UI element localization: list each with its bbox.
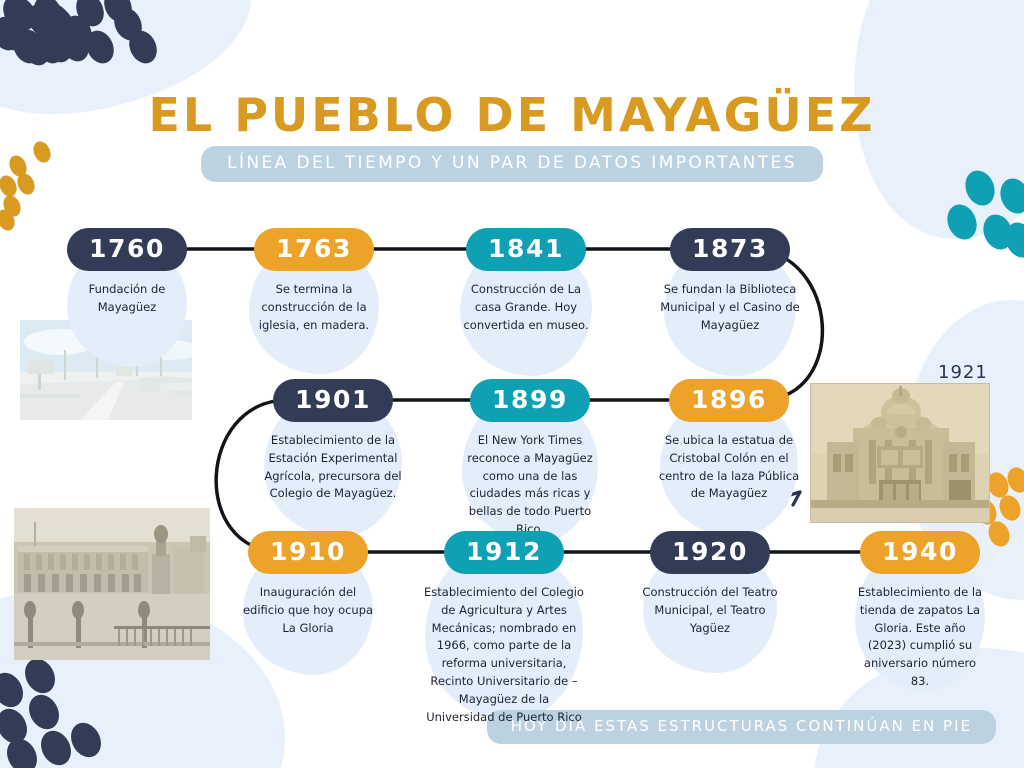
event-description: Construcción del Teatro Municipal, el Te… [640, 584, 780, 637]
event-description: Se fundan la Biblioteca Municipal y el C… [660, 281, 800, 334]
event-description: Establecimiento de la tienda de zapatos … [854, 584, 986, 691]
timeline-event-1896[interactable]: 1896 Se ubica la estatua de Cristobal Co… [658, 379, 800, 503]
photo-teatro-yaguez [810, 383, 990, 523]
photo-plaza-historic [14, 508, 210, 660]
event-year-pill: 1910 [248, 531, 368, 574]
event-year-pill: 1912 [444, 531, 564, 574]
event-year-pill: 1896 [669, 379, 789, 422]
event-description: Establecimiento del Colegio de Agricultu… [424, 584, 584, 727]
timeline-event-1760[interactable]: 1760 Fundación de Mayagüez [62, 228, 192, 317]
photo-year-label-1921: 1921 [938, 362, 988, 383]
infographic-canvas: EL PUEBLO DE MAYAGÜEZ LÍNEA DEL TIEMPO Y… [0, 0, 1024, 768]
event-description: Inauguración del edificio que hoy ocupa … [240, 584, 376, 637]
timeline-event-1873[interactable]: 1873 Se fundan la Biblioteca Municipal y… [660, 228, 800, 334]
timeline-event-1901[interactable]: 1901 Establecimiento de la Estación Expe… [262, 379, 404, 503]
event-year-pill: 1920 [650, 531, 770, 574]
event-year-pill: 1841 [466, 228, 586, 271]
page-title: EL PUEBLO DE MAYAGÜEZ [0, 88, 1024, 142]
timeline-event-1920[interactable]: 1920 Construcción del Teatro Municipal, … [640, 531, 780, 637]
subtitle-banner: LÍNEA DEL TIEMPO Y UN PAR DE DATOS IMPOR… [201, 146, 823, 182]
event-description: Se termina la construcción de la iglesia… [246, 281, 382, 334]
timeline-event-1841[interactable]: 1841 Construcción de La casa Grande. Hoy… [456, 228, 596, 334]
event-year-pill: 1940 [860, 531, 980, 574]
event-description: El New York Times reconoce a Mayagüez co… [460, 432, 600, 539]
event-description: Se ubica la estatua de Cristobal Colón e… [658, 432, 800, 503]
event-description: Establecimiento de la Estación Experimen… [262, 432, 404, 503]
timeline-event-1899[interactable]: 1899 El New York Times reconoce a Mayagü… [460, 379, 600, 539]
timeline-event-1910[interactable]: 1910 Inauguración del edificio que hoy o… [240, 531, 376, 637]
decor-dots-gold-left [0, 139, 54, 234]
event-description: Fundación de Mayagüez [62, 281, 192, 317]
event-year-pill: 1899 [470, 379, 590, 422]
event-year-pill: 1760 [67, 228, 187, 271]
timeline-event-1940[interactable]: 1940 Establecimiento de la tienda de zap… [854, 531, 986, 691]
timeline-event-1763[interactable]: 1763 Se termina la construcción de la ig… [246, 228, 382, 334]
event-year-pill: 1901 [273, 379, 393, 422]
event-year-pill: 1873 [670, 228, 790, 271]
event-year-pill: 1763 [254, 228, 374, 271]
timeline-event-1912[interactable]: 1912 Establecimiento del Colegio de Agri… [424, 531, 584, 727]
event-description: Construcción de La casa Grande. Hoy conv… [456, 281, 596, 334]
